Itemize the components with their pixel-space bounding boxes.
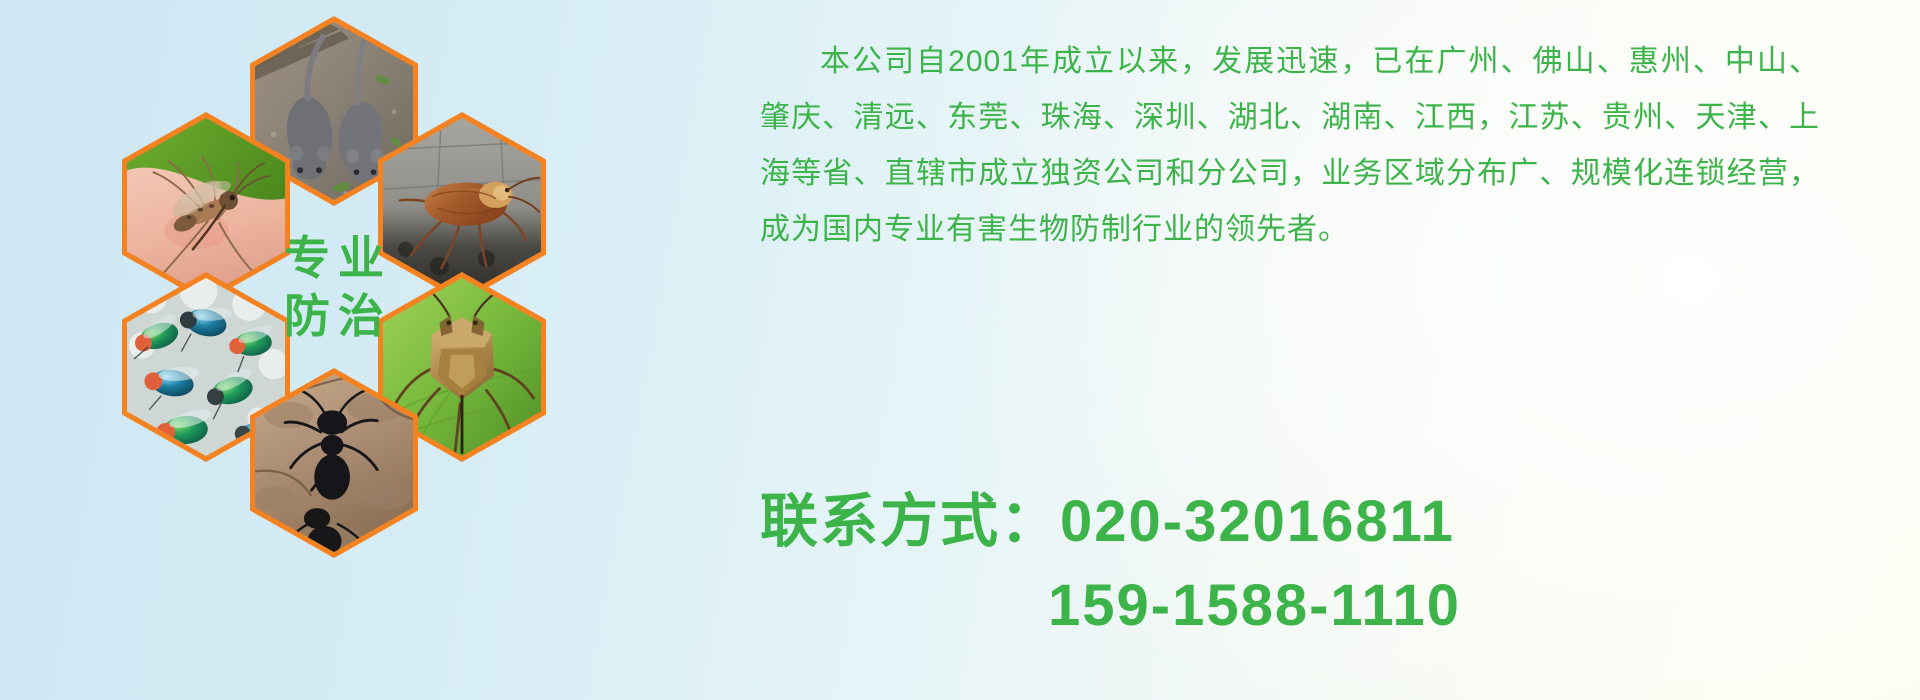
ant-photo — [255, 374, 413, 552]
hexagon-image-cluster: 专业 防治 — [96, 0, 616, 580]
slogan-line-2: 防治 — [276, 293, 392, 339]
contact-phone-mobile[interactable]: 159-1588-1110 — [760, 564, 1820, 648]
company-intro: 本公司自2001年成立以来，发展迅速，已在广州、佛山、惠州、中山、肇庆、清远、东… — [760, 34, 1820, 258]
intro-paragraph: 本公司自2001年成立以来，发展迅速，已在广州、佛山、惠州、中山、肇庆、清远、东… — [760, 34, 1820, 258]
slogan-line-1: 专业 — [276, 235, 392, 281]
center-slogan: 专业 防治 — [250, 192, 418, 382]
contact-block: 联系方式：020-32016811 159-1588-1110 — [760, 480, 1820, 648]
ant-illustration — [255, 374, 413, 552]
contact-phone-landline[interactable]: 联系方式：020-32016811 — [760, 480, 1820, 564]
pest-control-banner: 专业 防治 本公司自2001年成立以来，发展迅速，已在广州、佛山、惠州、中山、肇… — [0, 0, 1920, 700]
